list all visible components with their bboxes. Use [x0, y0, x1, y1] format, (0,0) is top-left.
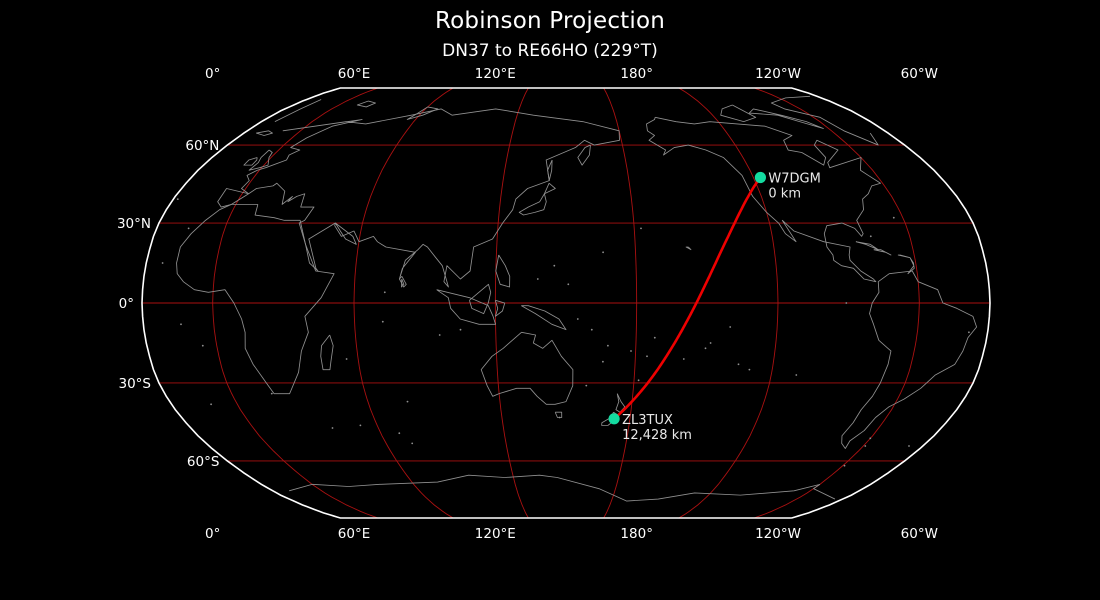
endpoint-distance-label: 12,428 km — [622, 428, 692, 443]
island-speck — [729, 326, 731, 328]
coastline-path — [321, 335, 333, 370]
endpoint-marker[interactable] — [609, 413, 620, 424]
lon-tick-label-bottom: 120°E — [475, 526, 516, 542]
lon-tick-label-bottom: 180° — [620, 526, 653, 542]
lat-tick-label: 30°N — [117, 216, 151, 232]
lon-tick-label-top: 120°W — [755, 66, 801, 82]
island-speck — [864, 445, 866, 447]
coastline-path — [646, 117, 880, 281]
island-speck — [210, 403, 212, 405]
lon-tick-label-top: 60°E — [338, 66, 370, 82]
coastline-path — [357, 101, 375, 107]
island-speck — [407, 401, 409, 403]
island-speck — [705, 347, 707, 349]
island-speck — [384, 291, 386, 293]
island-speck — [271, 393, 273, 395]
island-speck — [559, 417, 561, 419]
island-speck — [869, 437, 871, 439]
island-speck — [585, 385, 587, 387]
island-speck — [332, 427, 334, 429]
island-speck — [180, 323, 182, 325]
endpoint-callsign-label: W7DGM — [768, 172, 820, 187]
coastline-path — [578, 145, 591, 165]
island-speck — [844, 465, 846, 467]
coastline-path — [496, 255, 510, 287]
coastline-path — [289, 475, 820, 501]
island-speck — [630, 350, 632, 352]
island-speck — [567, 283, 569, 285]
lat-tick-label: 30°S — [119, 376, 152, 392]
island-speck — [845, 302, 847, 304]
island-speck — [893, 217, 895, 219]
coastline-path — [898, 255, 914, 274]
island-speck — [607, 345, 609, 347]
coastline-group — [162, 96, 977, 501]
coastline-path — [256, 131, 272, 136]
coastline-path — [555, 412, 562, 417]
island-speck — [683, 358, 685, 360]
coastline-path — [335, 223, 356, 244]
map-figure: Robinson Projection DN37 to RE66HO (229°… — [0, 0, 1100, 600]
coastline-path — [686, 247, 691, 250]
coastline-path — [249, 150, 272, 170]
island-speck — [908, 445, 910, 447]
lon-tick-label-top: 180° — [620, 66, 653, 82]
endpoint-marker[interactable] — [755, 172, 766, 183]
lat-tick-label: 60°N — [185, 138, 219, 154]
island-speck — [202, 345, 204, 347]
lat-tick-label: 0° — [119, 296, 134, 312]
island-speck — [638, 379, 640, 381]
coastline-path — [177, 204, 335, 393]
island-speck — [646, 355, 648, 357]
island-speck — [710, 342, 712, 344]
coastline-path — [813, 484, 834, 499]
island-speck — [460, 329, 462, 331]
island-speck — [411, 443, 413, 445]
island-speck — [602, 361, 604, 363]
lon-tick-label-top: 120°E — [475, 66, 516, 82]
island-speck — [537, 278, 539, 280]
coastline-path — [548, 160, 553, 181]
island-speck — [439, 334, 441, 336]
lon-tick-label-top: 0° — [205, 66, 220, 82]
lon-tick-label-top: 60°W — [901, 66, 938, 82]
endpoint-callsign-label: ZL3TUX — [622, 413, 673, 428]
island-speck — [738, 363, 740, 365]
island-speck — [398, 432, 400, 434]
island-speck — [382, 321, 384, 323]
lon-tick-label-bottom: 120°W — [755, 526, 801, 542]
island-speck — [640, 228, 642, 230]
robinson-map: W7DGM0 kmZL3TUX12,428 km 60°E60°E120°E12… — [0, 0, 1100, 600]
coastline-path — [519, 183, 555, 215]
island-speck — [749, 369, 751, 371]
island-speck — [577, 318, 579, 320]
island-speck — [602, 251, 604, 253]
coastline-path — [521, 306, 566, 330]
lat-tick-label: 60°S — [187, 454, 220, 470]
island-speck — [188, 228, 190, 230]
island-speck — [177, 198, 179, 200]
graticule-group — [142, 88, 990, 518]
lon-tick-label-bottom: 0° — [205, 526, 220, 542]
lon-tick-label-bottom: 60°E — [338, 526, 370, 542]
coastline-path — [874, 250, 891, 255]
coastline-path — [481, 332, 573, 404]
island-speck — [654, 337, 656, 339]
endpoint-distance-label: 0 km — [768, 187, 801, 202]
coastline-path — [856, 242, 878, 250]
island-speck — [162, 262, 164, 264]
island-speck — [968, 331, 970, 333]
island-speck — [795, 374, 797, 376]
endpoint-markers: W7DGM0 kmZL3TUX12,428 km — [609, 172, 821, 443]
coastline-path — [244, 157, 257, 165]
island-speck — [553, 265, 555, 267]
island-speck — [870, 235, 872, 237]
island-speck — [591, 329, 593, 331]
coastline-path — [218, 109, 620, 287]
coastline-path — [842, 271, 977, 449]
lon-tick-label-bottom: 60°W — [901, 526, 938, 542]
island-speck — [346, 358, 348, 360]
island-speck — [360, 425, 362, 427]
